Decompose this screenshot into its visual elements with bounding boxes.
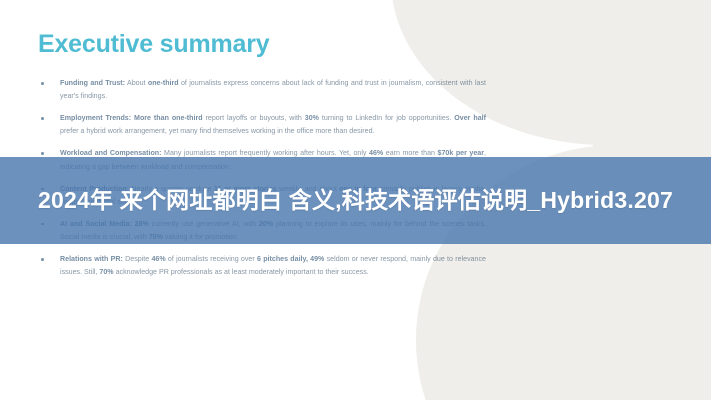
bullet-body-text: prefer a hybrid work arrangement, yet ma… <box>60 127 375 135</box>
watermark-overlay-text: 2024年 来个网址都明白 含义,科技术语评估说明_Hybrid3.207 <box>24 185 687 216</box>
bullet-body-text: turning to LinkedIn for job opportunitie… <box>319 114 454 122</box>
bullet-item: Employment Trends: More than one-third r… <box>38 112 486 138</box>
bullet-body-text: of journalists receiving over <box>166 255 257 263</box>
bullet-dot-icon <box>41 117 44 120</box>
bullet-lead-label: Funding and Trust: <box>60 79 125 87</box>
bullet-dot-icon <box>41 82 44 85</box>
bullet-emphasis-text: 30% <box>305 114 319 122</box>
bullet-lead-label: Employment Trends: <box>60 114 131 122</box>
bullet-body-text: acknowledge PR professionals as at least… <box>114 268 369 276</box>
bullet-emphasis-text: 6 pitches daily, 49% <box>257 255 324 263</box>
bullet-item: Funding and Trust: About one-third of jo… <box>38 77 486 103</box>
bullet-dot-icon <box>41 152 44 155</box>
bullet-emphasis-text: More than one-third <box>131 114 202 122</box>
bullet-emphasis-text: 46% <box>151 255 165 263</box>
bullet-lead-label: Relations with PR: <box>60 255 123 263</box>
bullet-dot-icon <box>41 258 44 261</box>
slide-title: Executive summary <box>38 30 269 59</box>
bullet-emphasis-text: 70% <box>99 268 113 276</box>
bullet-body-text: About <box>125 79 148 87</box>
bullet-body-text: Despite <box>123 255 152 263</box>
bullet-emphasis-text: one-third <box>148 79 179 87</box>
bullet-body-text: report layoffs or buyouts, with <box>203 114 305 122</box>
presentation-slide: Executive summary Funding and Trust: Abo… <box>0 0 711 400</box>
watermark-overlay-band: 2024年 来个网址都明白 含义,科技术语评估说明_Hybrid3.207 <box>0 157 711 244</box>
bullet-item: Relations with PR: Despite 46% of journa… <box>38 253 486 279</box>
bullet-emphasis-text: Over half <box>454 114 486 122</box>
